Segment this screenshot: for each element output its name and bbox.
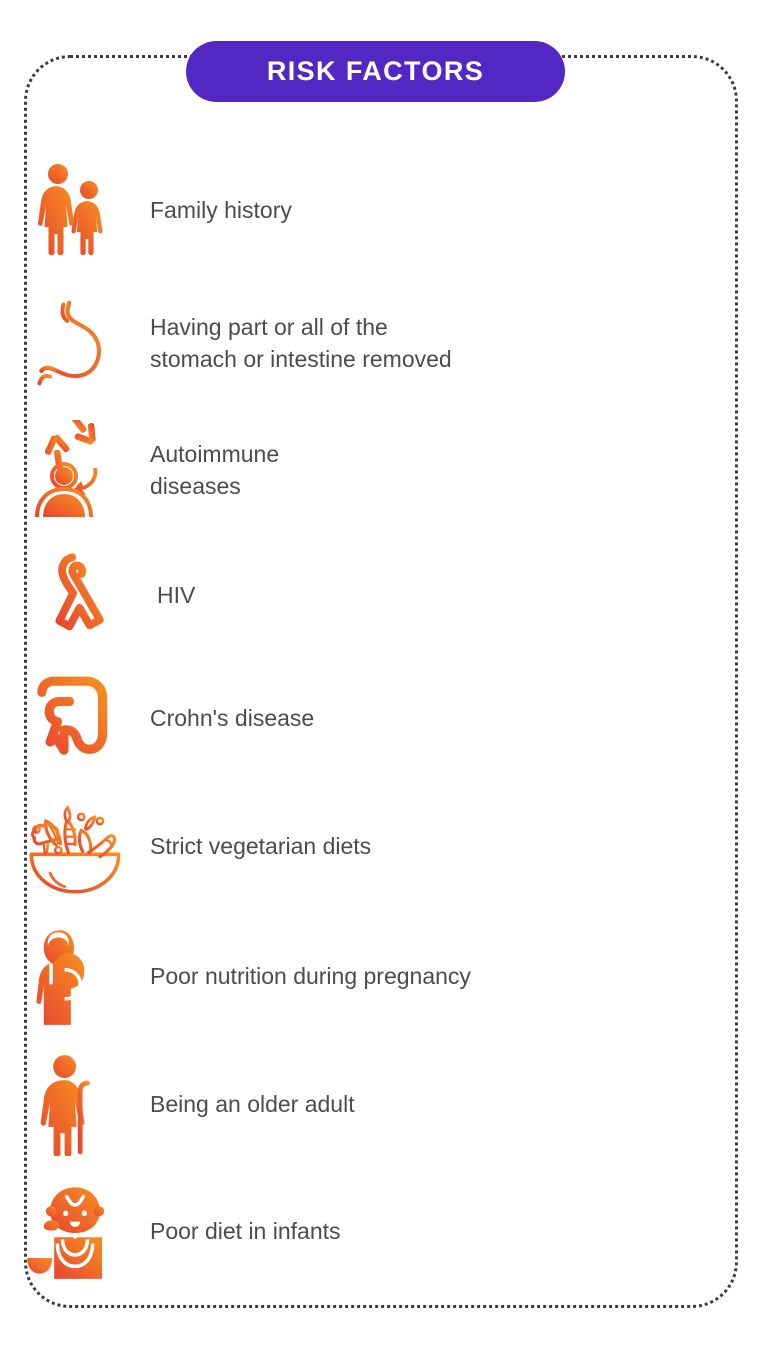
family-adult-child-icon [0,160,150,260]
baby-feeding-icon [0,1179,150,1283]
risk-factor-label: Poor nutrition during pregnancy [150,960,471,992]
risk-factor-label: Being an older adult [150,1088,355,1120]
stomach-icon [0,295,150,391]
risk-factor-label: Crohn's disease [150,702,314,734]
risk-factor-row: Poor nutrition during pregnancy [0,912,768,1040]
risk-factor-label: Autoimmune diseases [150,438,279,502]
risk-factor-label: Having part or all of the stomach or int… [150,311,452,375]
risk-factor-list: Family historyHaving part or all of the … [0,140,768,1294]
risk-factor-label: HIV [157,579,195,611]
elderly-person-cane-icon [0,1052,150,1156]
autoimmune-antibody-person-icon [0,420,150,520]
risk-factor-row: Having part or all of the stomach or int… [0,280,768,405]
awareness-ribbon-icon [0,549,150,641]
risk-factor-label: Poor diet in infants [150,1215,341,1247]
pregnant-woman-icon [0,924,150,1028]
risk-factor-row: Strict vegetarian diets [0,780,768,912]
risk-factor-row: Being an older adult [0,1040,768,1168]
page-title-pill: RISK FACTORS [186,41,565,102]
risk-factor-label: Family history [150,194,292,226]
risk-factor-row: Family history [0,140,768,280]
page-title: RISK FACTORS [267,56,484,87]
risk-factor-row: Crohn's disease [0,655,768,780]
risk-factor-label: Strict vegetarian diets [150,830,371,862]
risk-factor-row: HIV [0,535,768,655]
intestine-colon-icon [0,672,150,764]
salad-bowl-icon [0,794,150,898]
risk-factor-row: Poor diet in infants [0,1168,768,1294]
risk-factor-row: Autoimmune diseases [0,405,768,535]
